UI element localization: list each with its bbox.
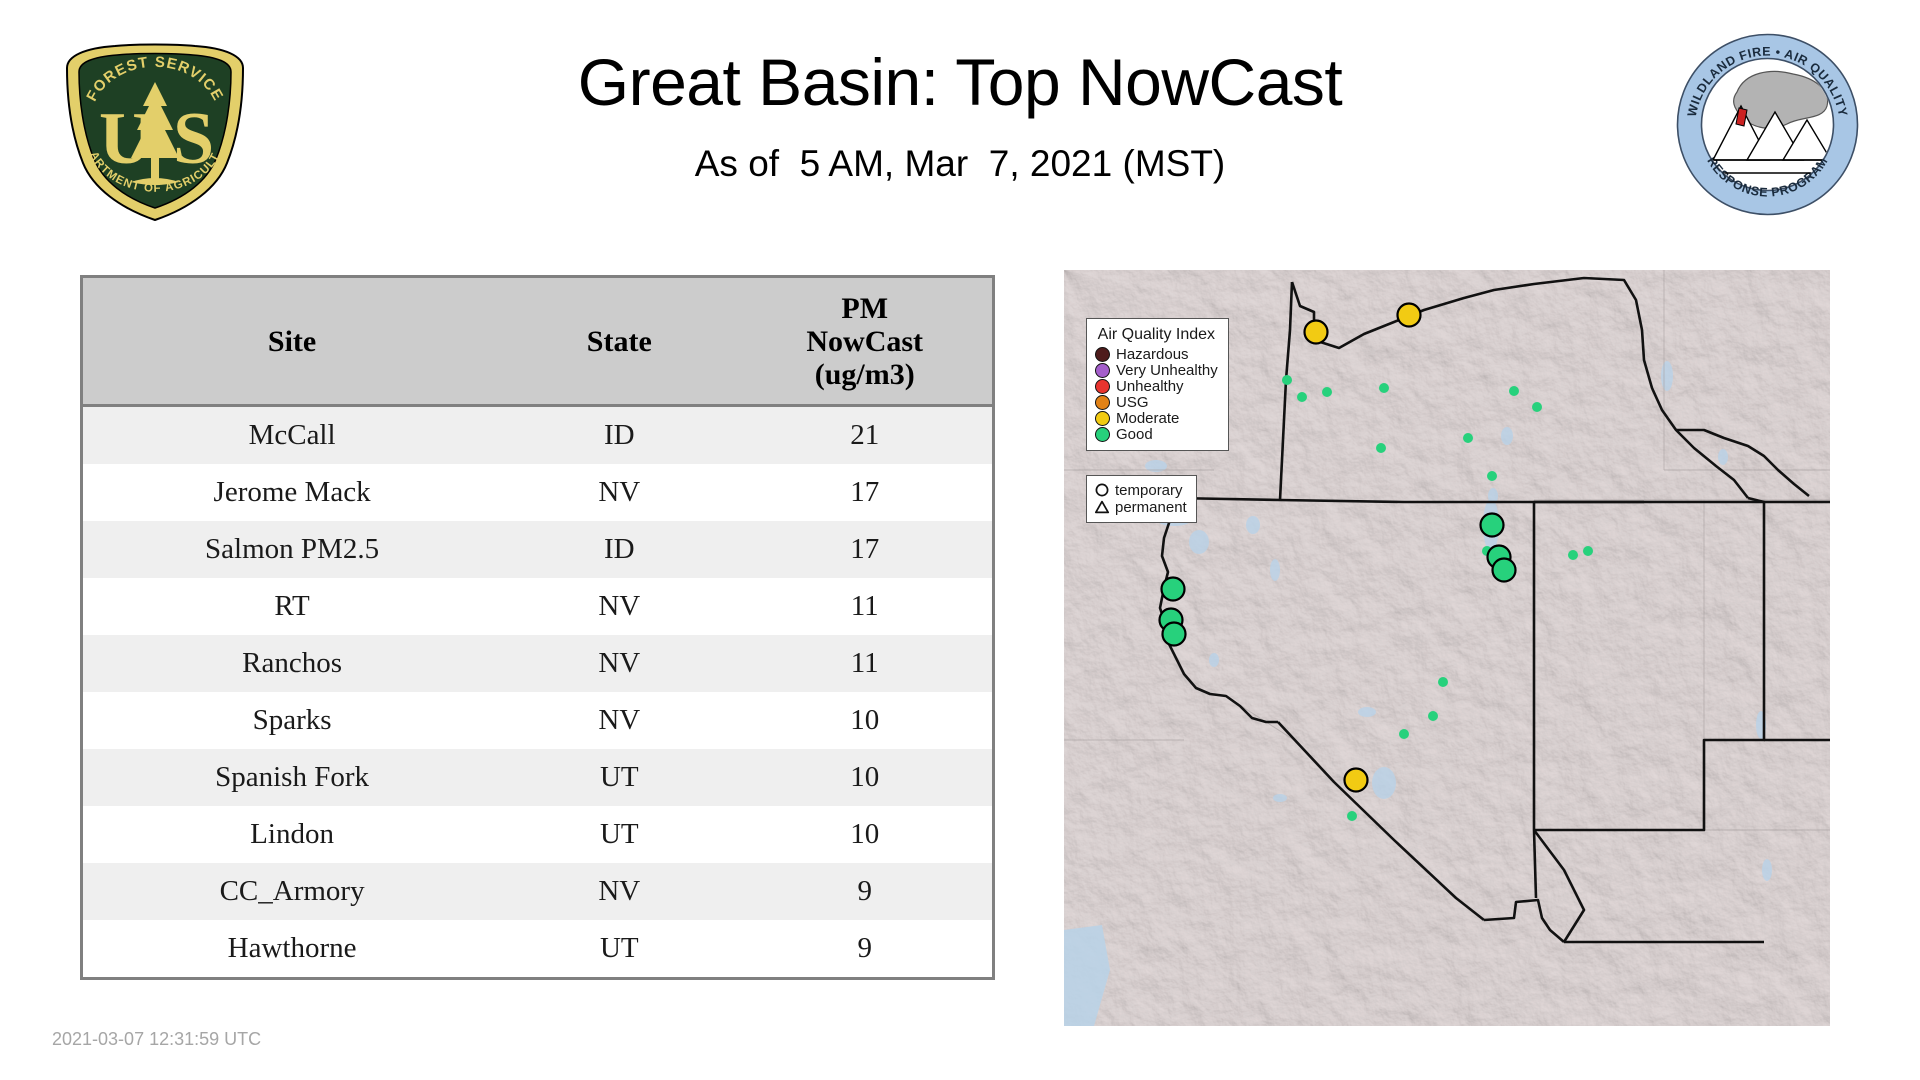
cell-state: ID (501, 521, 737, 578)
cell-state: UT (501, 749, 737, 806)
aqi-legend-row: Unhealthy (1095, 379, 1218, 394)
legend-temporary-label: temporary (1115, 483, 1183, 498)
cell-site: Hawthorne (83, 920, 501, 977)
cell-site: Spanish Fork (83, 749, 501, 806)
column-header-state: State (501, 278, 737, 406)
column-header-site: Site (83, 278, 501, 406)
monitor-marker[interactable] (1583, 546, 1593, 556)
cell-pm: 17 (737, 464, 992, 521)
table-row: RanchosNV11 (83, 635, 992, 692)
wfaqrp-logo: WILDLAND FIRE • AIR QUALITY RESPONSE PRO… (1675, 32, 1860, 217)
top-nowcast-table: Site State PM NowCast (ug/m3) McCallID21… (83, 278, 992, 977)
aqi-legend-label: Very Unhealthy (1116, 363, 1218, 378)
cell-pm: 17 (737, 521, 992, 578)
cell-site: Jerome Mack (83, 464, 501, 521)
cell-pm: 9 (737, 863, 992, 920)
aqi-swatch-icon (1095, 347, 1110, 362)
monitor-type-legend: temporary permanent (1086, 475, 1197, 523)
aqi-legend-label: Moderate (1116, 411, 1179, 426)
nowcast-table-container: Site State PM NowCast (ug/m3) McCallID21… (80, 275, 995, 980)
table-header-row: Site State PM NowCast (ug/m3) (83, 278, 992, 406)
cell-site: RT (83, 578, 501, 635)
generation-timestamp: 2021-03-07 12:31:59 UTC (52, 1029, 261, 1050)
cell-state: ID (501, 406, 737, 465)
cell-site: Sparks (83, 692, 501, 749)
monitor-marker[interactable] (1568, 550, 1578, 560)
table-row: Salmon PM2.5ID17 (83, 521, 992, 578)
cell-pm: 11 (737, 578, 992, 635)
aqi-legend-row: Good (1095, 427, 1218, 442)
monitor-marker[interactable] (1163, 623, 1186, 646)
monitor-marker[interactable] (1379, 383, 1389, 393)
monitor-marker[interactable] (1481, 514, 1504, 537)
aqi-swatch-icon (1095, 427, 1110, 442)
monitor-marker[interactable] (1347, 811, 1357, 821)
page-header: FOREST SERVICE U S DEPARTMENT OF AGRICUL… (0, 0, 1920, 250)
monitor-marker[interactable] (1376, 443, 1386, 453)
monitor-marker[interactable] (1509, 386, 1519, 396)
cell-pm: 10 (737, 692, 992, 749)
aqi-swatch-icon (1095, 379, 1110, 394)
triangle-icon (1094, 499, 1110, 515)
air-quality-map[interactable]: Air Quality Index HazardousVery Unhealth… (1062, 268, 1832, 1028)
cell-pm: 11 (737, 635, 992, 692)
monitor-marker[interactable] (1463, 433, 1473, 443)
aqi-legend-row: Very Unhealthy (1095, 363, 1218, 378)
table-row: Jerome MackNV17 (83, 464, 992, 521)
cell-pm: 21 (737, 406, 992, 465)
monitor-marker[interactable] (1399, 729, 1409, 739)
table-row: CC_ArmoryNV9 (83, 863, 992, 920)
monitor-marker[interactable] (1345, 769, 1368, 792)
cell-site: McCall (83, 406, 501, 465)
table-header: Site State PM NowCast (ug/m3) (83, 278, 992, 406)
cell-state: NV (501, 578, 737, 635)
monitor-marker[interactable] (1305, 321, 1328, 344)
pm-header-line2: NowCast (741, 325, 988, 358)
cell-site: Ranchos (83, 635, 501, 692)
aqi-legend-row: Hazardous (1095, 347, 1218, 362)
aqi-legend-row: Moderate (1095, 411, 1218, 426)
aqi-legend-row: USG (1095, 395, 1218, 410)
monitor-marker[interactable] (1532, 402, 1542, 412)
page-title: Great Basin: Top NowCast (300, 48, 1620, 117)
cell-state: NV (501, 635, 737, 692)
cell-state: UT (501, 920, 737, 977)
forest-service-shield-icon: FOREST SERVICE U S DEPARTMENT OF AGRICUL… (55, 38, 255, 223)
cell-pm: 10 (737, 749, 992, 806)
table-row: HawthorneUT9 (83, 920, 992, 977)
cell-state: UT (501, 806, 737, 863)
aqi-legend-label: Good (1116, 427, 1153, 442)
aqi-legend-items: HazardousVery UnhealthyUnhealthyUSGModer… (1095, 347, 1218, 442)
monitor-marker[interactable] (1162, 578, 1185, 601)
aqi-swatch-icon (1095, 363, 1110, 378)
circle-icon (1094, 482, 1110, 498)
monitor-marker[interactable] (1322, 387, 1332, 397)
aqi-legend: Air Quality Index HazardousVery Unhealth… (1086, 318, 1229, 451)
table-row: SparksNV10 (83, 692, 992, 749)
table-row: Spanish ForkUT10 (83, 749, 992, 806)
monitor-marker[interactable] (1493, 559, 1516, 582)
table-row: McCallID21 (83, 406, 992, 465)
aqi-swatch-icon (1095, 395, 1110, 410)
table-row: LindonUT10 (83, 806, 992, 863)
legend-temporary: temporary (1094, 482, 1187, 498)
table-body: McCallID21Jerome MackNV17Salmon PM2.5ID1… (83, 406, 992, 978)
aqi-legend-label: Hazardous (1116, 347, 1189, 362)
cell-state: NV (501, 692, 737, 749)
pm-header-line1: PM (741, 292, 988, 325)
cell-pm: 9 (737, 920, 992, 977)
monitor-marker[interactable] (1282, 375, 1292, 385)
legend-permanent-label: permanent (1115, 500, 1187, 515)
title-block: Great Basin: Top NowCast As of 5 AM, Mar… (300, 48, 1620, 185)
aqi-legend-title: Air Quality Index (1095, 326, 1218, 344)
aqi-legend-label: Unhealthy (1116, 379, 1184, 394)
cell-state: NV (501, 863, 737, 920)
cell-state: NV (501, 464, 737, 521)
table-row: RTNV11 (83, 578, 992, 635)
wildland-fire-air-quality-icon: WILDLAND FIRE • AIR QUALITY RESPONSE PRO… (1675, 32, 1860, 217)
cell-site: Salmon PM2.5 (83, 521, 501, 578)
cell-pm: 10 (737, 806, 992, 863)
monitor-marker[interactable] (1428, 711, 1438, 721)
pm-header-line3: (ug/m3) (741, 358, 988, 391)
monitor-marker[interactable] (1398, 304, 1421, 327)
monitor-marker[interactable] (1297, 392, 1307, 402)
usda-forest-service-logo: FOREST SERVICE U S DEPARTMENT OF AGRICUL… (55, 38, 255, 223)
monitor-marker[interactable] (1487, 471, 1497, 481)
monitor-marker[interactable] (1438, 677, 1448, 687)
aqi-legend-label: USG (1116, 395, 1149, 410)
legend-permanent: permanent (1094, 499, 1187, 515)
column-header-pm-nowcast: PM NowCast (ug/m3) (737, 278, 992, 406)
cell-site: Lindon (83, 806, 501, 863)
cell-site: CC_Armory (83, 863, 501, 920)
page-subtitle: As of 5 AM, Mar 7, 2021 (MST) (300, 143, 1620, 185)
aqi-swatch-icon (1095, 411, 1110, 426)
